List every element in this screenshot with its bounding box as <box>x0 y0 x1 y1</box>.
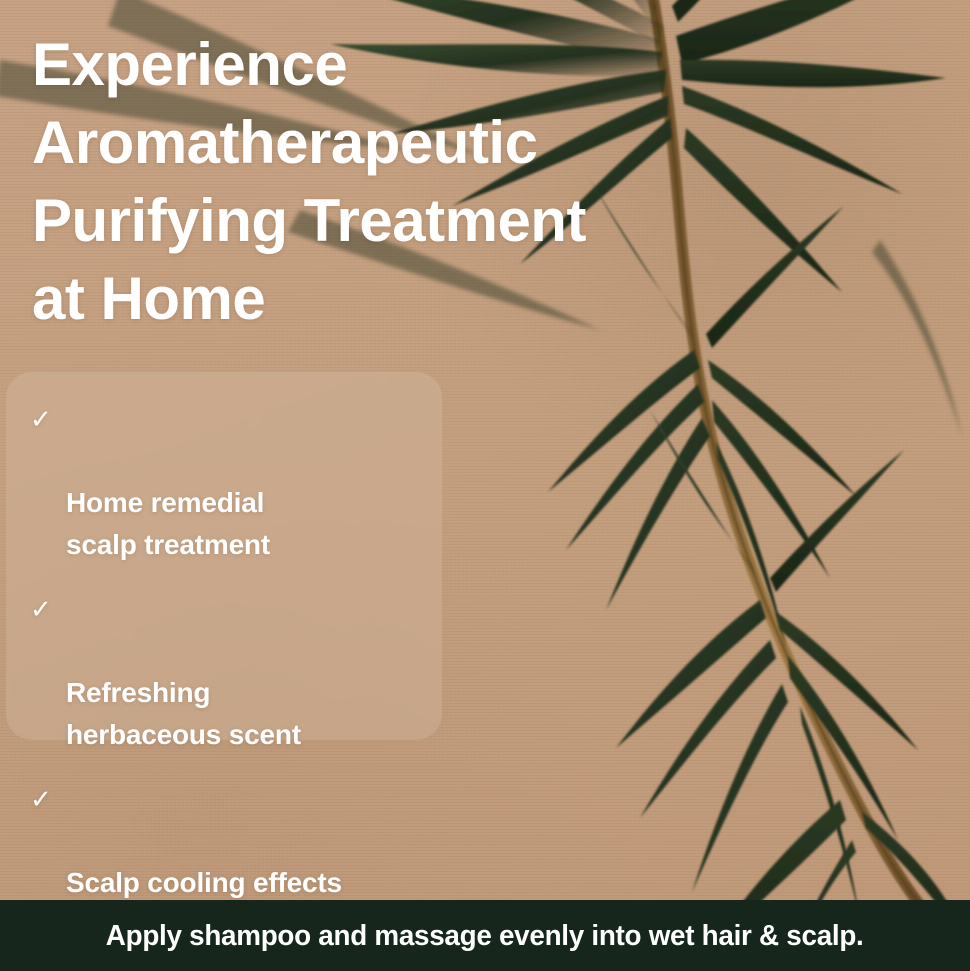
check-icon: ✓ <box>30 588 56 630</box>
list-item: ✓ Home remedial scalp treatment <box>30 398 430 566</box>
list-item-label: Refreshing herbaceous scent <box>66 677 301 750</box>
instruction-text: Apply shampoo and massage evenly into we… <box>106 919 864 953</box>
product-promo-poster: Experience Aromatherapeutic Purifying Tr… <box>0 0 970 971</box>
instruction-banner: Apply shampoo and massage evenly into we… <box>0 900 970 971</box>
check-icon: ✓ <box>30 398 56 440</box>
list-item: ✓ Refreshing herbaceous scent <box>30 588 430 756</box>
benefits-list: ✓ Home remedial scalp treatment ✓ Refres… <box>30 398 430 971</box>
page-title: Experience Aromatherapeutic Purifying Tr… <box>32 26 672 338</box>
benefits-panel: ✓ Home remedial scalp treatment ✓ Refres… <box>6 372 442 740</box>
list-item-label: Home remedial scalp treatment <box>66 487 270 560</box>
check-icon: ✓ <box>30 778 56 820</box>
